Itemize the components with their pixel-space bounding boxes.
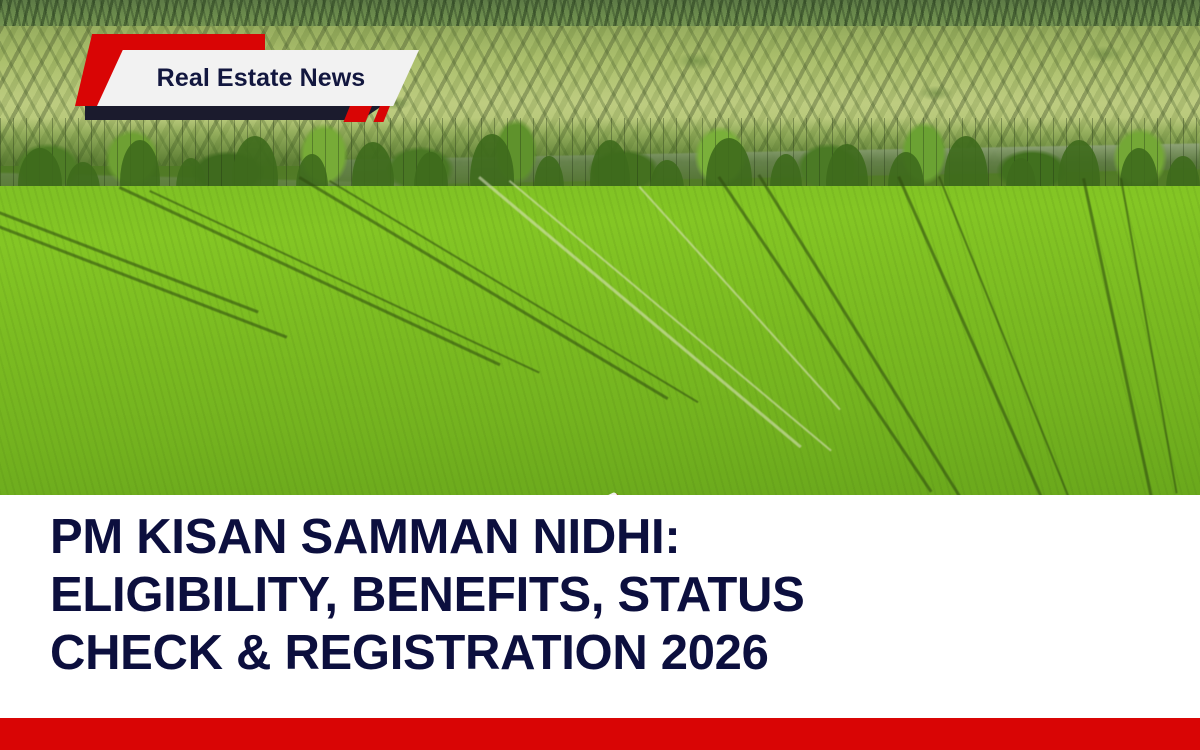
badge-shadow-bar	[85, 104, 385, 120]
title-line-3: CHECK & REGISTRATION 2026	[50, 624, 1050, 682]
page-title: PM KISAN SAMMAN NIDHI: ELIGIBILITY, BENE…	[50, 508, 1050, 682]
bottom-accent-bar	[0, 718, 1200, 750]
news-banner: Real Estate News PM KISAN SAMMAN NIDHI: …	[0, 0, 1200, 750]
title-line-1: PM KISAN SAMMAN NIDHI:	[50, 508, 1050, 566]
badge-panel: Real Estate News	[97, 50, 419, 106]
crop-field	[0, 186, 1200, 495]
badge-label: Real Estate News	[151, 64, 366, 93]
spray-mist	[428, 490, 773, 495]
category-badge[interactable]: Real Estate News	[75, 34, 445, 122]
title-line-2: ELIGIBILITY, BENEFITS, STATUS	[50, 566, 1050, 624]
